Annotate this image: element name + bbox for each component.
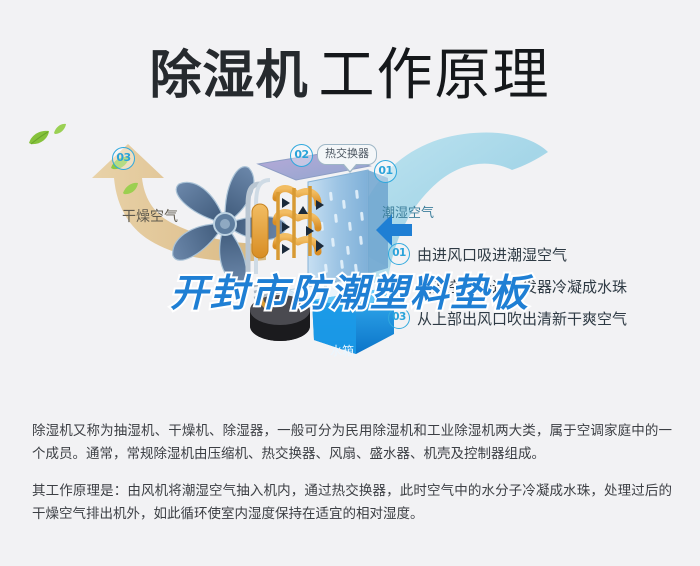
leaf-icon (122, 182, 139, 196)
heat-exchanger-callout: 热交换器 (317, 144, 377, 165)
list-item: 02 潮湿空气经过蒸发器冷凝成水珠 (388, 275, 688, 297)
diagram-badge-02: 02 (290, 144, 313, 167)
page-title: 除湿机工作原理 (0, 30, 700, 111)
label-dry-air: 干燥空气 (122, 206, 178, 226)
leaf-icon (28, 130, 50, 146)
title-primary: 除湿机 (149, 46, 308, 106)
label-humid-air: 潮湿空气 (382, 202, 434, 221)
step-number: 01 (388, 243, 410, 265)
diagram-badge-01: 01 (374, 160, 397, 183)
leaf-icon (53, 123, 67, 135)
step-text: 潮湿空气经过蒸发器冷凝成水珠 (417, 276, 627, 297)
paragraph-1: 除湿机又称为抽湿机、干燥机、除湿器，一般可分为民用除湿机和工业除湿机两大类，属于… (32, 420, 672, 466)
step-list: 01 由进风口吸进潮湿空气 02 潮湿空气经过蒸发器冷凝成水珠 03 从上部出风… (388, 243, 688, 339)
step-text: 由进风口吸进潮湿空气 (417, 244, 567, 265)
list-item: 01 由进风口吸进潮湿空气 (388, 243, 688, 265)
step-number: 03 (388, 307, 410, 329)
step-text: 从上部出风口吹出清新干爽空气 (417, 308, 627, 329)
description-block: 除湿机又称为抽湿机、干燥机、除湿器，一般可分为民用除湿机和工业除湿机两大类，属于… (32, 420, 672, 540)
paragraph-2: 其工作原理是：由风机将潮湿空气抽入机内，通过热交换器，此时空气中的水分子冷凝成水… (32, 480, 672, 526)
diagram-badge-03: 03 (112, 147, 135, 170)
step-number: 02 (388, 275, 410, 297)
infographic-page: 除湿机工作原理 (0, 0, 700, 566)
list-item: 03 从上部出风口吹出清新干爽空气 (388, 307, 688, 329)
title-secondary: 工作原理 (319, 43, 551, 108)
label-water-tank: 水箱 (330, 342, 354, 359)
